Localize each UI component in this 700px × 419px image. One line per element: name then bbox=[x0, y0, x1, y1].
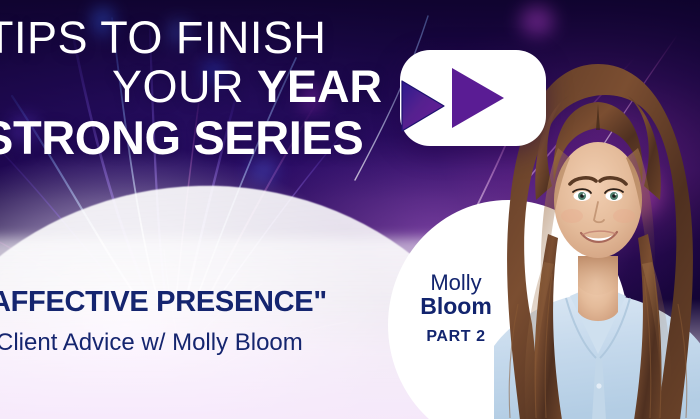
episode-subtitle: Client Advice w/ Molly Bloom bbox=[0, 329, 390, 357]
speaker-last-name: Bloom bbox=[396, 295, 516, 318]
headline-line-2-bold: YEAR bbox=[257, 61, 382, 112]
headline-line-1: TIPS TO FINISH bbox=[0, 16, 404, 60]
speaker-name-block: Molly Bloom PART 2 bbox=[396, 272, 516, 345]
video-thumbnail-banner: TIPS TO FINISH YOUR YEAR STRONG SERIES M… bbox=[0, 0, 700, 419]
headline-line-2-light: YOUR bbox=[112, 61, 257, 112]
headline-block: TIPS TO FINISH YOUR YEAR STRONG SERIES bbox=[0, 16, 404, 161]
lower-title-block: AFFECTIVE PRESENCE" Client Advice w/ Mol… bbox=[0, 286, 390, 357]
episode-title: AFFECTIVE PRESENCE" bbox=[0, 286, 390, 319]
speaker-first-name: Molly bbox=[396, 272, 516, 294]
headline-line-2: YOUR YEAR bbox=[0, 65, 404, 109]
play-icon-gradient bbox=[388, 75, 450, 137]
play-icon bbox=[452, 68, 504, 128]
part-badge: PART 2 bbox=[396, 329, 516, 345]
headline-line-3: STRONG SERIES bbox=[0, 115, 404, 161]
